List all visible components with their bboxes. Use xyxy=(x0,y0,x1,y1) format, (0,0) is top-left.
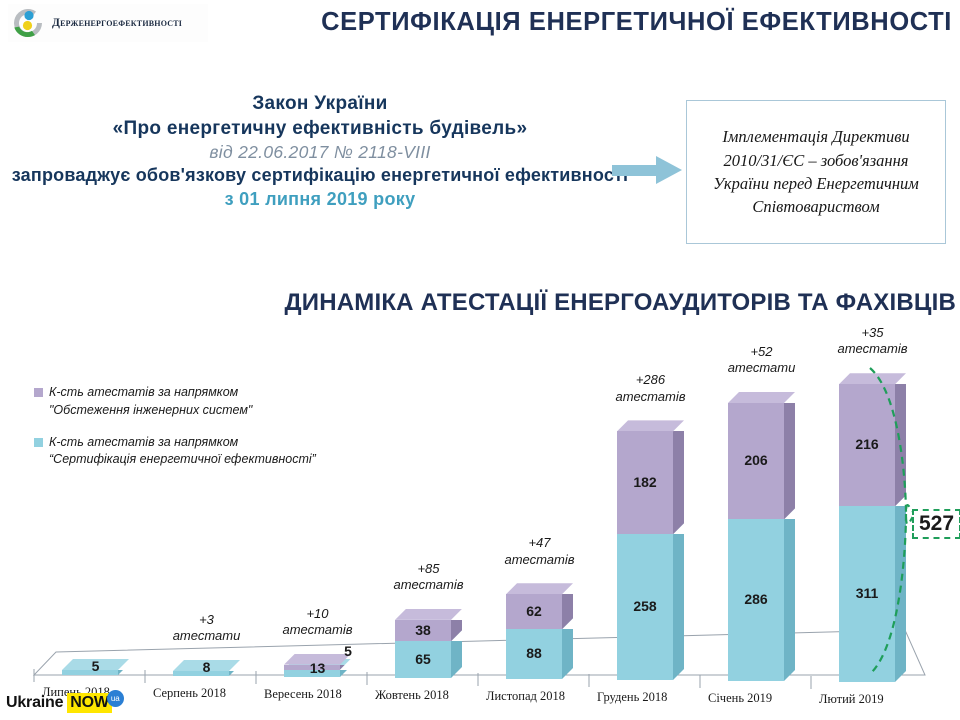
ukraine-now-logo: Ukraine NOW ua xyxy=(6,691,124,715)
law-line-name: «Про енергетичну ефективність будівель» xyxy=(0,117,640,142)
x-axis-label: Листопад 2018 xyxy=(486,689,565,704)
bar-segment: 65 xyxy=(395,641,451,678)
bar-segment: 62 xyxy=(506,594,562,629)
x-axis-label: Жовтень 2018 xyxy=(375,688,449,703)
bar-value-label: 8 xyxy=(173,659,240,675)
arrow-right-icon xyxy=(612,156,684,184)
organization-logo: Держенергоефективності xyxy=(8,4,208,42)
bar-value-label: 62 xyxy=(506,603,562,619)
ukraine-now-ua-badge: ua xyxy=(107,690,124,707)
bar-segment: 286 xyxy=(728,519,784,681)
bar-segment: 206 xyxy=(728,403,784,519)
x-axis-label: Лютий 2019 xyxy=(819,692,884,707)
logo-wordmark: Держенергоефективності xyxy=(52,17,182,29)
x-axis-label: Вересень 2018 xyxy=(264,687,342,702)
bar-segment: 182 xyxy=(617,431,673,534)
total-badge-value: 527 xyxy=(919,512,954,535)
bar-column: 6538 xyxy=(395,320,462,690)
bar-chart: 5Липень 20188+3 атестатиСерпень 2018135+… xyxy=(0,320,960,690)
x-axis-label: Серпень 2018 xyxy=(153,686,226,701)
bar-column: 5 xyxy=(62,320,129,690)
law-line-number: від 22.06.2017 № 2118-VIII xyxy=(0,141,640,164)
bar-value-label: 88 xyxy=(506,645,562,661)
bar-value-label: 13 xyxy=(284,660,351,676)
bar-value-label: 206 xyxy=(728,452,784,468)
directive-text: Імплементація Директиви 2010/31/ЄС – зоб… xyxy=(687,125,945,219)
page-header: Держенергоефективності СЕРТИФІКАЦІЯ ЕНЕР… xyxy=(0,0,960,52)
law-statement: Закон України «Про енергетичну ефективні… xyxy=(0,92,640,211)
bar-annotation: +10 атестатів xyxy=(248,606,388,639)
chart-title: ДИНАМІКА АТЕСТАЦІЇ ЕНЕРГОАУДИТОРІВ ТА ФА… xyxy=(284,289,956,317)
bar-value-label: 38 xyxy=(395,622,451,638)
bar-annotation: +286 атестатів xyxy=(581,372,721,405)
law-line-date: з 01 липня 2019 року xyxy=(0,188,640,211)
total-badge: 527 xyxy=(912,509,960,539)
bar-segment: 38 xyxy=(395,620,451,641)
x-axis-label: Грудень 2018 xyxy=(597,690,667,705)
law-line-body: запроваджує обов'язкову сертифікацію ене… xyxy=(0,164,640,187)
bar-value-label: 182 xyxy=(617,474,673,490)
bar-value-label: 5 xyxy=(334,643,362,659)
bar-value-label: 258 xyxy=(617,598,673,614)
ukraine-now-word-ukraine: Ukraine xyxy=(6,694,63,712)
bar-segment: 258 xyxy=(617,534,673,680)
bar-value-label: 286 xyxy=(728,591,784,607)
bar-column: 8862 xyxy=(506,320,573,690)
bar-annotation: +35 атестатів xyxy=(803,325,943,358)
derzhenergoefektyvnosti-logo-icon xyxy=(10,5,46,41)
law-line-title: Закон України xyxy=(0,92,640,117)
page-title: СЕРТИФІКАЦІЯ ЕНЕРГЕТИЧНОЇ ЕФЕКТИВНОСТІ xyxy=(321,8,952,37)
bar-annotation: +47 атестатів xyxy=(470,535,610,568)
bar-value-label: 5 xyxy=(62,658,129,674)
x-axis-label: Січень 2019 xyxy=(708,691,772,706)
ukraine-now-word-now: NOW xyxy=(67,693,112,713)
directive-callout-box: Імплементація Директиви 2010/31/ЄС – зоб… xyxy=(686,100,946,244)
bar-value-label: 65 xyxy=(395,651,451,667)
bar-segment: 88 xyxy=(506,629,562,679)
